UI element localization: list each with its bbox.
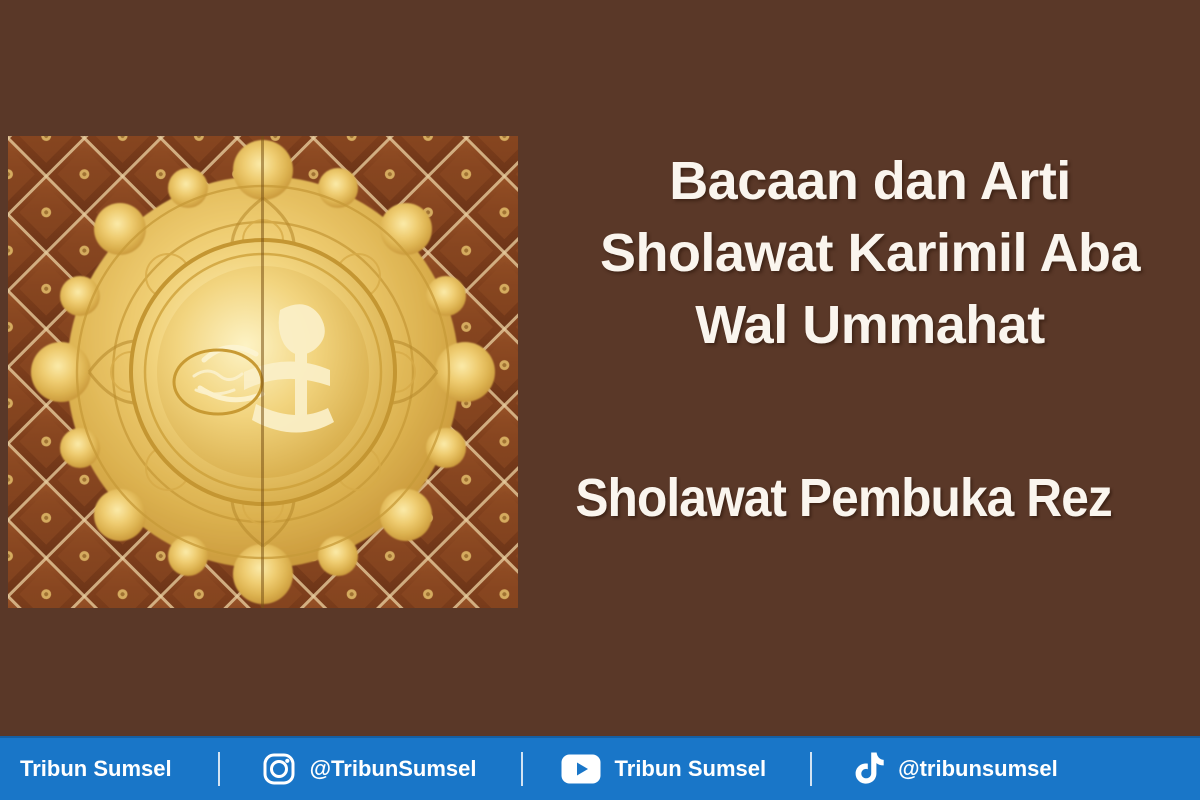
youtube-icon[interactable] [561, 754, 601, 784]
footer-divider [218, 752, 220, 786]
footer-item-tiktok[interactable]: @tribunsumsel [850, 750, 1058, 788]
instagram-icon[interactable] [262, 752, 296, 786]
footer-item-brand[interactable]: Tribun Sumsel [20, 756, 172, 782]
subheadline: Sholawat Pembuka Rez [540, 466, 1200, 531]
masjid-nabawi-door-illustration [8, 136, 518, 608]
footer-item-instagram[interactable]: @TribunSumsel [262, 752, 477, 786]
social-footer-bar: Tribun Sumsel @TribunSumsel Tribun Sumse… [0, 736, 1200, 800]
article-thumbnail [8, 136, 518, 608]
footer-tiktok-label: @tribunsumsel [898, 756, 1058, 782]
headline-line-3: Wal Ummahat [540, 290, 1200, 362]
headline: Bacaan dan Arti Sholawat Karimil Aba Wal… [540, 146, 1200, 361]
footer-item-youtube[interactable]: Tribun Sumsel [561, 754, 767, 784]
footer-divider [810, 752, 812, 786]
footer-brand-label: Tribun Sumsel [20, 756, 172, 782]
article-card-canvas: Bacaan dan Arti Sholawat Karimil Aba Wal… [0, 0, 1200, 800]
headline-line-1: Bacaan dan Arti [540, 146, 1200, 218]
footer-instagram-label: @TribunSumsel [310, 756, 477, 782]
footer-youtube-label: Tribun Sumsel [615, 756, 767, 782]
subheadline-line-1: Sholawat Pembuka Rez [540, 466, 1147, 531]
headline-line-2: Sholawat Karimil Aba [540, 218, 1200, 290]
footer-divider [521, 752, 523, 786]
tiktok-icon[interactable] [850, 750, 884, 788]
